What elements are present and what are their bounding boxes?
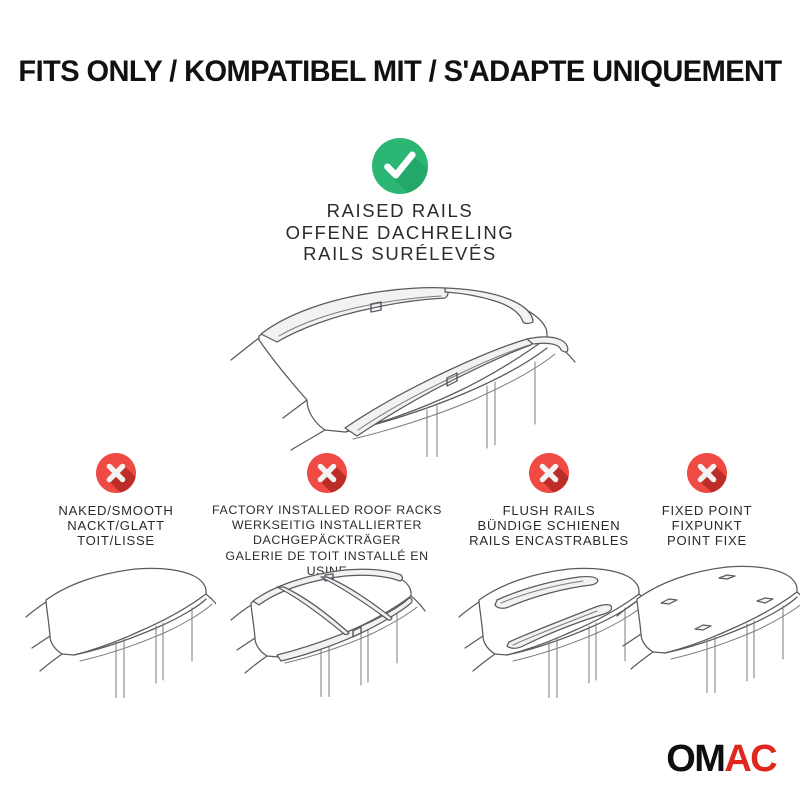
caption-en: FACTORY INSTALLED ROOF RACKS [204, 503, 450, 518]
x-circle-icon [529, 453, 569, 493]
badge-wrap [640, 453, 774, 497]
caption-de: BÜNDIGE SCHIENEN [452, 518, 646, 533]
badge-wrap [452, 453, 646, 497]
caption-naked-smooth: NAKED/SMOOTH NACKT/GLATT TOIT/LISSE [16, 503, 216, 549]
page-title: FITS ONLY / KOMPATIBEL MIT / S'ADAPTE UN… [6, 55, 794, 89]
caption-de-1: WERKSEITIG INSTALLIERTER [204, 518, 450, 533]
logo-text-part-1: OM [666, 738, 724, 780]
caption-en: FLUSH RAILS [452, 503, 646, 518]
raised-rails-label-en: RAISED RAILS [0, 200, 800, 222]
x-circle-icon [96, 453, 136, 493]
badge-wrap [204, 453, 450, 497]
x-circle-icon [307, 453, 347, 493]
caption-flush-rails: FLUSH RAILS BÜNDIGE SCHIENEN RAILS ENCAS… [452, 503, 646, 549]
caption-en: FIXED POINT [640, 503, 774, 518]
car-roof-raised-rails-illustration [195, 282, 605, 457]
raised-rails-label-de: OFFENE DACHRELING [0, 222, 800, 244]
car-roof-naked-illustration [16, 558, 216, 703]
incompatible-item-flush-rails: FLUSH RAILS BÜNDIGE SCHIENEN RAILS ENCAS… [452, 453, 646, 549]
raised-rails-label-fr: RAILS SURÉLEVÉS [0, 243, 800, 265]
incompatible-item-factory-roof-racks: FACTORY INSTALLED ROOF RACKS WERKSEITIG … [204, 453, 450, 579]
car-roof-factory-rack-illustration [217, 557, 437, 702]
caption-de-2: DACHGEPÄCKTRÄGER [204, 533, 450, 548]
caption-fr: POINT FIXE [640, 533, 774, 548]
incompatible-item-fixed-point: FIXED POINT FIXPUNKT POINT FIXE [640, 453, 774, 549]
car-roof-fixed-point-illustration [607, 553, 800, 698]
x-circle-icon [687, 453, 727, 493]
logo-text-part-2: AC [724, 738, 776, 780]
compatibility-infographic: FITS ONLY / KOMPATIBEL MIT / S'ADAPTE UN… [0, 0, 800, 800]
check-circle-icon [372, 138, 428, 194]
caption-fr: RAILS ENCASTRABLES [452, 533, 646, 548]
caption-fr: TOIT/LISSE [16, 533, 216, 548]
badge-wrap [16, 453, 216, 497]
incompatible-item-naked-smooth: NAKED/SMOOTH NACKT/GLATT TOIT/LISSE [16, 453, 216, 549]
omac-logo: OMAC [666, 740, 776, 778]
caption-de: FIXPUNKT [640, 518, 774, 533]
caption-en: NAKED/SMOOTH [16, 503, 216, 518]
caption-fixed-point: FIXED POINT FIXPUNKT POINT FIXE [640, 503, 774, 549]
caption-de: NACKT/GLATT [16, 518, 216, 533]
raised-rails-labels: RAISED RAILS OFFENE DACHRELING RAILS SUR… [0, 200, 800, 265]
